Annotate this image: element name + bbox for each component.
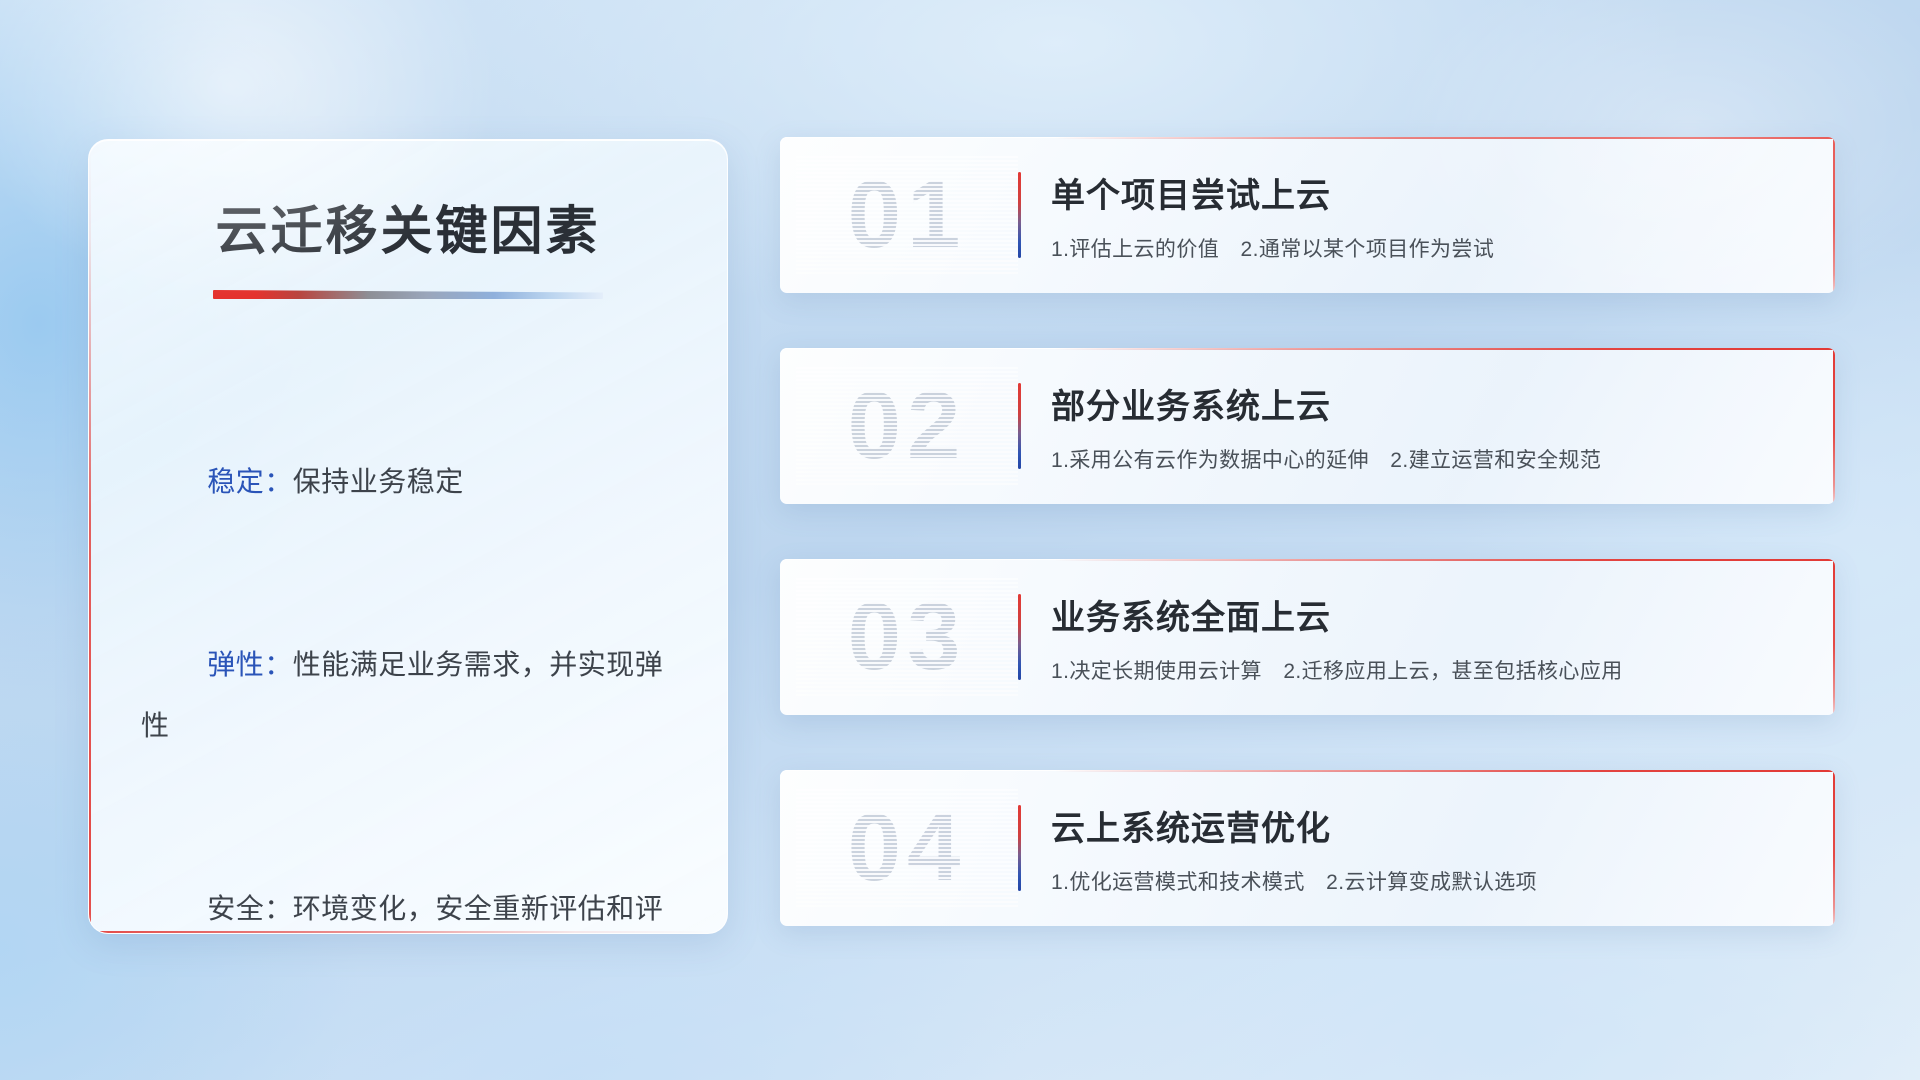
card-right-accent-line — [1833, 559, 1835, 715]
step-title: 业务系统全面上云 — [1051, 590, 1809, 639]
step-subtitle: 1.优化运营模式和技术模式 2.云计算变成默认选项 — [1051, 866, 1809, 896]
card-right-accent-line — [1833, 770, 1835, 926]
slide-canvas: 云迁移关键因素 稳定：保持业务稳定 弹性：性能满足业务需求，并实现弹性 安全：环… — [0, 0, 1920, 1080]
step-card-02[interactable]: 02 部分业务系统上云 1.采用公有云作为数据中心的延伸 2.建立运营和安全规范 — [780, 348, 1835, 504]
list-item: 弹性：性能满足业务需求，并实现弹性 — [141, 573, 683, 817]
step-card-01[interactable]: 01 单个项目尝试上云 1.评估上云的价值 2.通常以某个项目作为尝试 — [780, 137, 1835, 293]
step-title: 单个项目尝试上云 — [1051, 168, 1809, 217]
step-text-block: 单个项目尝试上云 1.评估上云的价值 2.通常以某个项目作为尝试 — [1051, 168, 1835, 263]
step-divider-bar — [1018, 805, 1021, 891]
list-item-key: 安全： — [207, 893, 293, 924]
step-title: 云上系统运营优化 — [1051, 801, 1809, 850]
card-top-accent-line — [780, 559, 1835, 561]
step-subtitle: 1.决定长期使用云计算 2.迁移应用上云，甚至包括核心应用 — [1051, 655, 1809, 685]
card-top-accent-line — [780, 348, 1835, 350]
step-number: 02 — [800, 371, 1014, 481]
list-item-key: 稳定： — [207, 466, 293, 497]
card-right-accent-line — [1833, 348, 1835, 504]
list-item: 安全：环境变化，安全重新评估和评审 — [141, 817, 683, 934]
list-item-key: 弹性： — [207, 649, 293, 680]
step-text-block: 业务系统全面上云 1.决定长期使用云计算 2.迁移应用上云，甚至包括核心应用 — [1051, 590, 1835, 685]
step-number: 04 — [800, 793, 1014, 903]
step-number: 01 — [800, 160, 1014, 270]
step-divider-bar — [1018, 383, 1021, 469]
step-title: 部分业务系统上云 — [1051, 379, 1809, 428]
step-card-03[interactable]: 03 业务系统全面上云 1.决定长期使用云计算 2.迁移应用上云，甚至包括核心应… — [780, 559, 1835, 715]
step-subtitle: 1.评估上云的价值 2.通常以某个项目作为尝试 — [1051, 233, 1809, 263]
card-right-accent-line — [1833, 137, 1835, 293]
step-number: 03 — [800, 582, 1014, 692]
migration-steps-list: 01 单个项目尝试上云 1.评估上云的价值 2.通常以某个项目作为尝试 02 部… — [780, 137, 1835, 926]
title-underline-rule — [213, 290, 603, 299]
key-factors-card: 云迁移关键因素 稳定：保持业务稳定 弹性：性能满足业务需求，并实现弹性 安全：环… — [88, 139, 728, 934]
key-factors-list: 稳定：保持业务稳定 弹性：性能满足业务需求，并实现弹性 安全：环境变化，安全重新… — [89, 390, 727, 934]
step-divider-bar — [1018, 172, 1021, 258]
step-card-04[interactable]: 04 云上系统运营优化 1.优化运营模式和技术模式 2.云计算变成默认选项 — [780, 770, 1835, 926]
list-item-value: 保持业务稳定 — [293, 466, 464, 497]
step-divider-bar — [1018, 594, 1021, 680]
card-top-accent-line — [780, 770, 1835, 772]
step-text-block: 云上系统运营优化 1.优化运营模式和技术模式 2.云计算变成默认选项 — [1051, 801, 1835, 896]
step-subtitle: 1.采用公有云作为数据中心的延伸 2.建立运营和安全规范 — [1051, 444, 1809, 474]
step-text-block: 部分业务系统上云 1.采用公有云作为数据中心的延伸 2.建立运营和安全规范 — [1051, 379, 1835, 474]
card-top-accent-line — [780, 137, 1835, 139]
list-item: 稳定：保持业务稳定 — [141, 390, 683, 573]
page-title: 云迁移关键因素 — [89, 189, 727, 264]
